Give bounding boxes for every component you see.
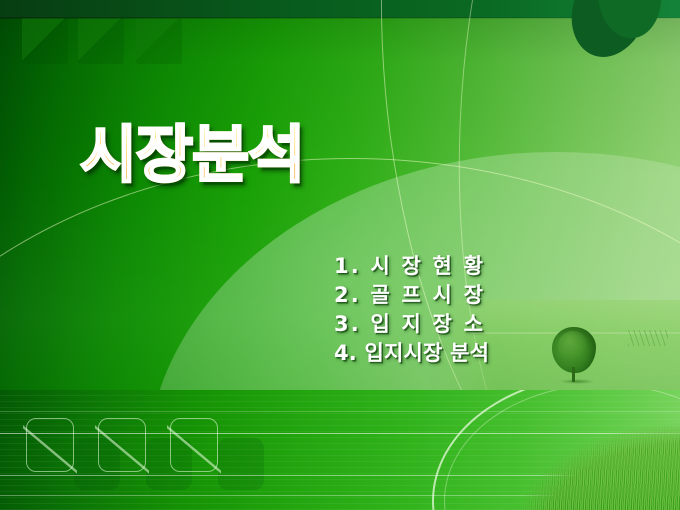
- page-title: 시장분석: [80, 124, 304, 186]
- decor-diagonal-1: [22, 18, 68, 64]
- agenda-list: 1. 시 장 현 황 2. 골 프 시 장 3. 입 지 장 소 4. 입지시장…: [334, 252, 634, 368]
- bottom-glyph-outline-1: [26, 418, 74, 472]
- tree-trunk: [572, 367, 575, 382]
- bottom-glyph-outline-3: [170, 418, 218, 472]
- decor-diagonal-3: [136, 18, 182, 64]
- agenda-item-1[interactable]: 1. 시 장 현 황: [334, 252, 634, 281]
- pylon-icon: [628, 330, 668, 346]
- agenda-item-3[interactable]: 3. 입 지 장 소: [334, 310, 634, 339]
- tree-shadow: [560, 379, 594, 384]
- agenda-item-2[interactable]: 2. 골 프 시 장: [334, 281, 634, 310]
- decor-diagonal-2: [78, 18, 124, 64]
- agenda-item-4[interactable]: 4. 입지시장 분석: [334, 339, 634, 368]
- bottom-glyph-outline-2: [98, 418, 146, 472]
- bottom-glyph-fill-3: [218, 438, 264, 490]
- bottom-band: [0, 390, 680, 510]
- presentation-slide: 시장분석 시장분석 1. 시 장 현 황 2. 골 프 시 장 3. 입 지 장…: [0, 0, 680, 510]
